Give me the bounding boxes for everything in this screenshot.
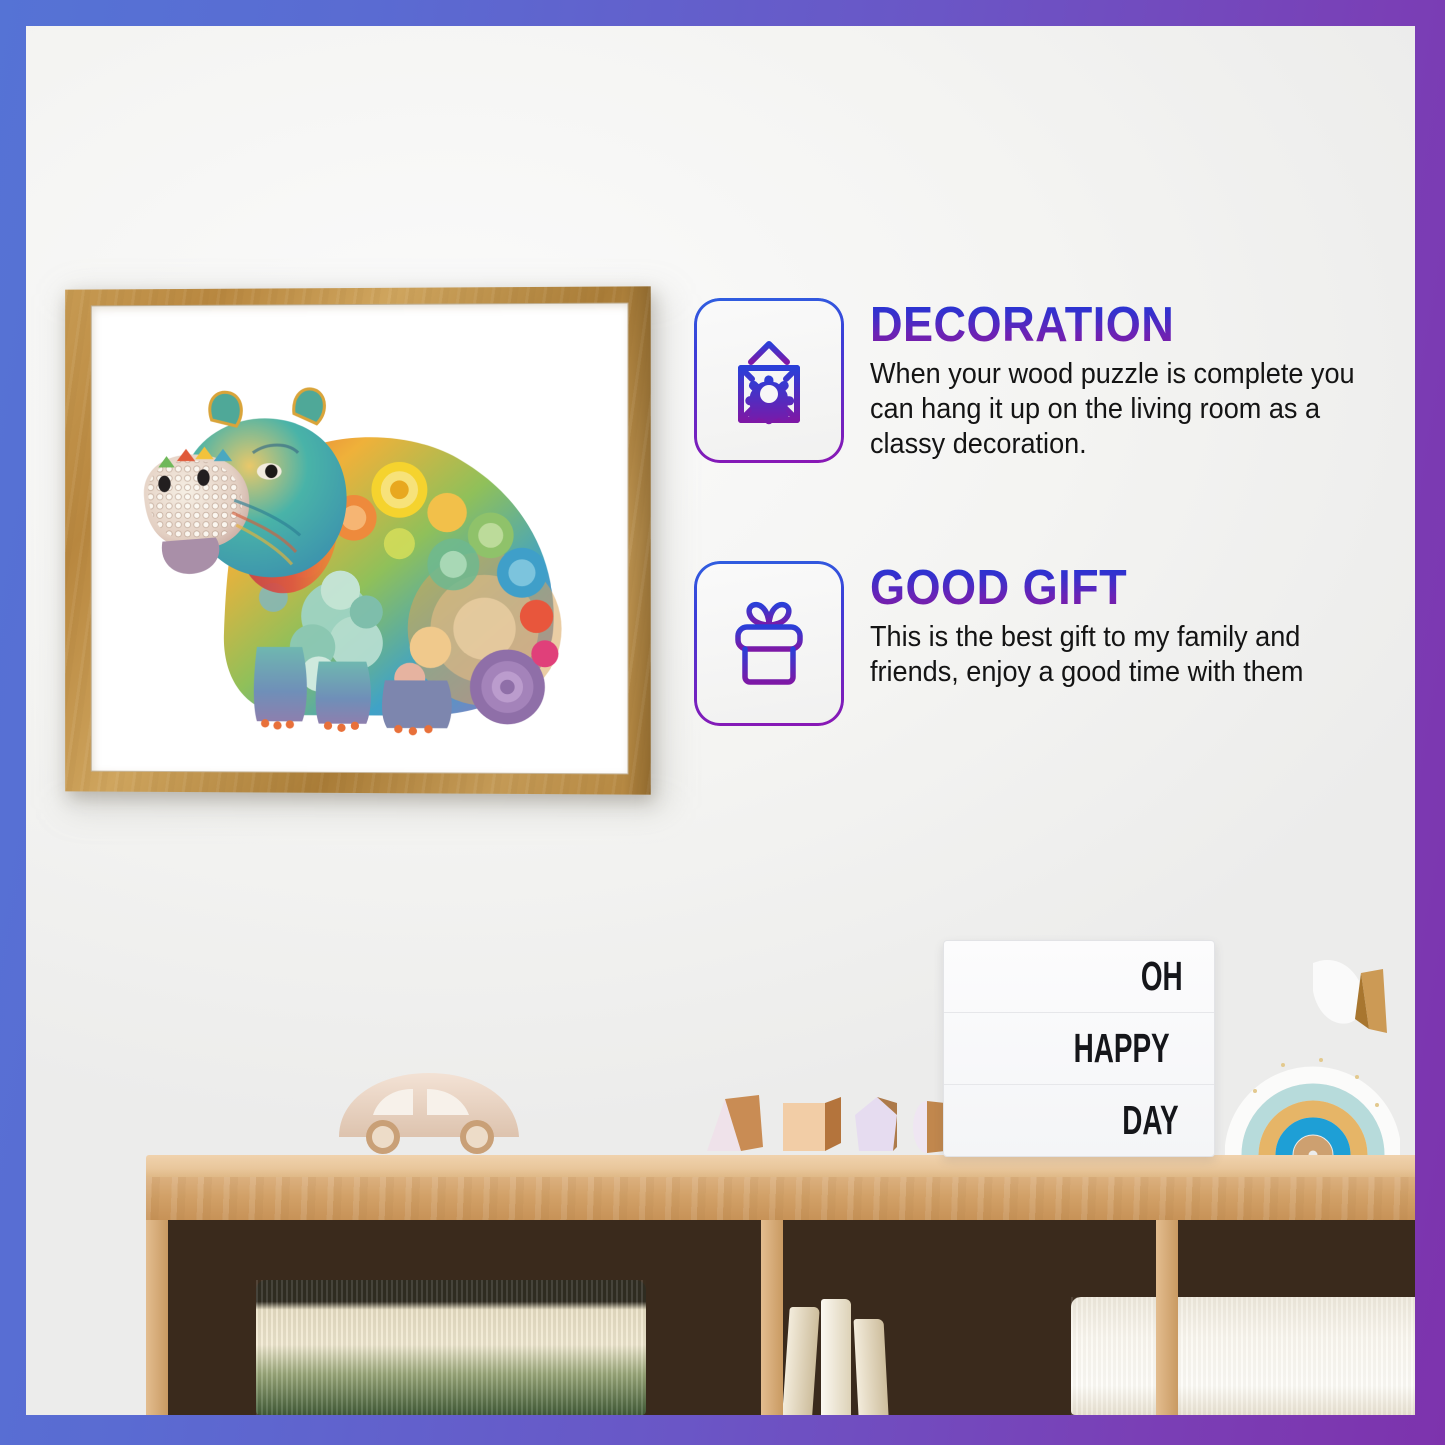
framed-picture-glyph: [721, 328, 817, 433]
oh-happy-day-lightbox[interactable]: OH HAPPY DAY: [943, 940, 1215, 1157]
woven-basket-white: [1071, 1297, 1415, 1415]
feature-decoration: DECORATION When your wood puzzle is comp…: [694, 298, 1394, 463]
wooden-rainbow-stacker: [1225, 1039, 1400, 1157]
hippo-puzzle-artwork: [91, 303, 629, 775]
picture-frame[interactable]: [65, 286, 651, 794]
wooden-hook-ornament: [1303, 955, 1393, 1043]
framed-picture-icon: [694, 298, 844, 463]
wooden-toy-car: [321, 1067, 536, 1155]
book: [782, 1307, 820, 1415]
lightbox-row-1: OH: [944, 941, 1214, 1013]
feature-body: This is the best gift to my family and f…: [870, 620, 1368, 690]
book: [853, 1319, 888, 1415]
feature-title: DECORATION: [870, 302, 1352, 349]
product-poster: DECORATION When your wood puzzle is comp…: [0, 0, 1445, 1445]
feature-body: When your wood puzzle is complete you ca…: [870, 357, 1368, 461]
table-divider: [761, 1220, 783, 1415]
table-top: [146, 1155, 1415, 1177]
table-leg: [146, 1220, 168, 1415]
feature-title: GOOD GIFT: [870, 565, 1352, 612]
shelf-books: [786, 1295, 966, 1415]
lightbox-letters: OH: [1140, 956, 1182, 997]
table-edge: [146, 1176, 1415, 1220]
lightbox-row-2: HAPPY: [944, 1013, 1214, 1085]
console-table: [146, 1155, 1415, 1415]
feature-text: GOOD GIFT This is the best gift to my fa…: [870, 561, 1394, 690]
lightbox-letters: HAPPY: [1073, 1028, 1169, 1069]
gift-box-icon: [694, 561, 844, 726]
room-scene: DECORATION When your wood puzzle is comp…: [26, 26, 1415, 1415]
book: [821, 1299, 851, 1415]
gift-box-glyph: [721, 591, 817, 696]
cube-block: [783, 1103, 825, 1151]
feature-text: DECORATION When your wood puzzle is comp…: [870, 298, 1394, 461]
table-divider: [1156, 1220, 1178, 1415]
lightbox-row-3: DAY: [944, 1085, 1214, 1156]
woven-basket-green: [256, 1280, 646, 1415]
frame-mat: [91, 303, 629, 775]
lightbox-letters: DAY: [1122, 1100, 1178, 1141]
feature-list: DECORATION When your wood puzzle is comp…: [694, 298, 1394, 824]
feature-good-gift: GOOD GIFT This is the best gift to my fa…: [694, 561, 1394, 726]
